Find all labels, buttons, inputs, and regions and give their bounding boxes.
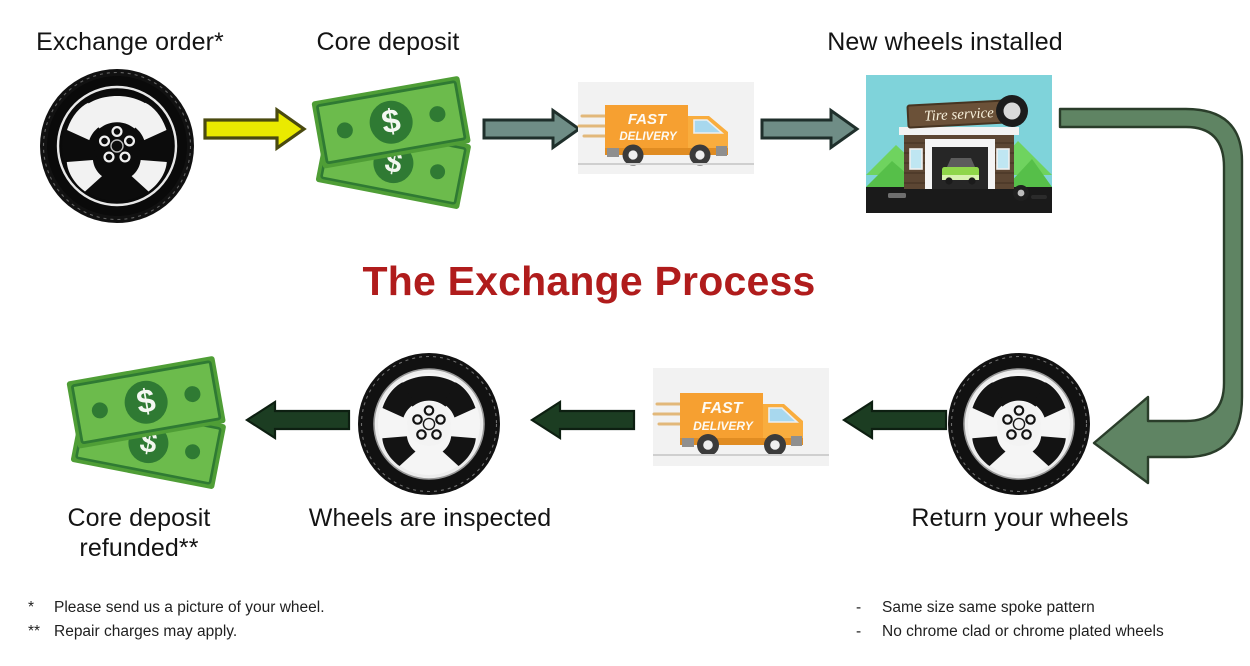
- footnote-left-1: * Please send us a picture of your wheel…: [28, 596, 458, 620]
- svg-text:DELIVERY: DELIVERY: [619, 131, 678, 143]
- delivery-truck-icon: FAST DELIVERY: [578, 82, 754, 174]
- footnote-right-2-text: No chrome clad or chrome plated wheels: [882, 620, 1164, 644]
- step-label-new-wheels-installed: New wheels installed: [800, 28, 1090, 58]
- exchange-process-diagram: Exchange order* Core deposit New wheels …: [0, 0, 1250, 666]
- footnote-left-1-text: Please send us a picture of your wheel.: [54, 596, 325, 620]
- step-label-return-wheels: Return your wheels: [895, 504, 1145, 534]
- step-icon-return-wheels: [946, 352, 1092, 496]
- svg-text:FAST: FAST: [628, 111, 668, 128]
- step-icon-core-deposit: $ $: [303, 72, 483, 207]
- delivery-truck-icon: FAST DELIVERY: [653, 368, 829, 466]
- step-icon-exchange-order: [38, 68, 196, 224]
- arrow-truck-to-inspected: [528, 400, 636, 440]
- step-label-core-deposit: Core deposit: [288, 28, 488, 58]
- silver-wheel-icon: [946, 352, 1092, 496]
- arrow-return-to-truck: [840, 400, 948, 440]
- page-title: The Exchange Process: [0, 258, 1178, 305]
- footnote-right-2-mark: -: [856, 620, 882, 644]
- svg-text:FAST: FAST: [702, 400, 744, 417]
- arrow-deposit-to-truck: [482, 108, 582, 150]
- footnotes-right: - Same size same spoke pattern - No chro…: [856, 596, 1250, 644]
- step-label-deposit-refunded: Core deposit refunded**: [30, 504, 248, 563]
- footnote-left-1-mark: *: [28, 596, 54, 620]
- footnote-right-1-text: Same size same spoke pattern: [882, 596, 1095, 620]
- footnote-right-1: - Same size same spoke pattern: [856, 596, 1250, 620]
- footnote-right-1-mark: -: [856, 596, 882, 620]
- tire-service-shop-icon: Tire service: [866, 75, 1052, 213]
- svg-text:DELIVERY: DELIVERY: [693, 419, 754, 433]
- step-icon-deposit-refunded: $ $: [58, 352, 238, 487]
- step-icon-shipping-out: FAST DELIVERY: [578, 82, 754, 174]
- step-icon-shipping-back: FAST DELIVERY: [653, 368, 829, 466]
- arrow-inspected-to-refund: [243, 400, 351, 440]
- step-label-exchange-order: Exchange order*: [10, 28, 250, 58]
- arrow-order-to-deposit: [203, 107, 307, 151]
- step-icon-tire-service-shop: Tire service: [866, 75, 1052, 213]
- footnote-left-2-text: Repair charges may apply.: [54, 620, 237, 644]
- footnote-left-2: ** Repair charges may apply.: [28, 620, 458, 644]
- deposit-refunded-line2: refunded**: [30, 534, 248, 564]
- deposit-refunded-line1: Core deposit: [30, 504, 248, 534]
- footnote-right-2: - No chrome clad or chrome plated wheels: [856, 620, 1250, 644]
- footnotes-left: * Please send us a picture of your wheel…: [28, 596, 458, 644]
- step-label-wheels-inspected: Wheels are inspected: [300, 504, 560, 534]
- arrow-truck-to-shop: [760, 108, 860, 150]
- step-icon-wheels-inspected: [356, 352, 502, 496]
- silver-wheel-icon: [356, 352, 502, 496]
- black-wheel-icon: [38, 68, 196, 224]
- footnote-left-2-mark: **: [28, 620, 54, 644]
- dollar-bills-icon: $ $: [303, 72, 483, 207]
- dollar-bills-icon: $ $: [58, 352, 238, 487]
